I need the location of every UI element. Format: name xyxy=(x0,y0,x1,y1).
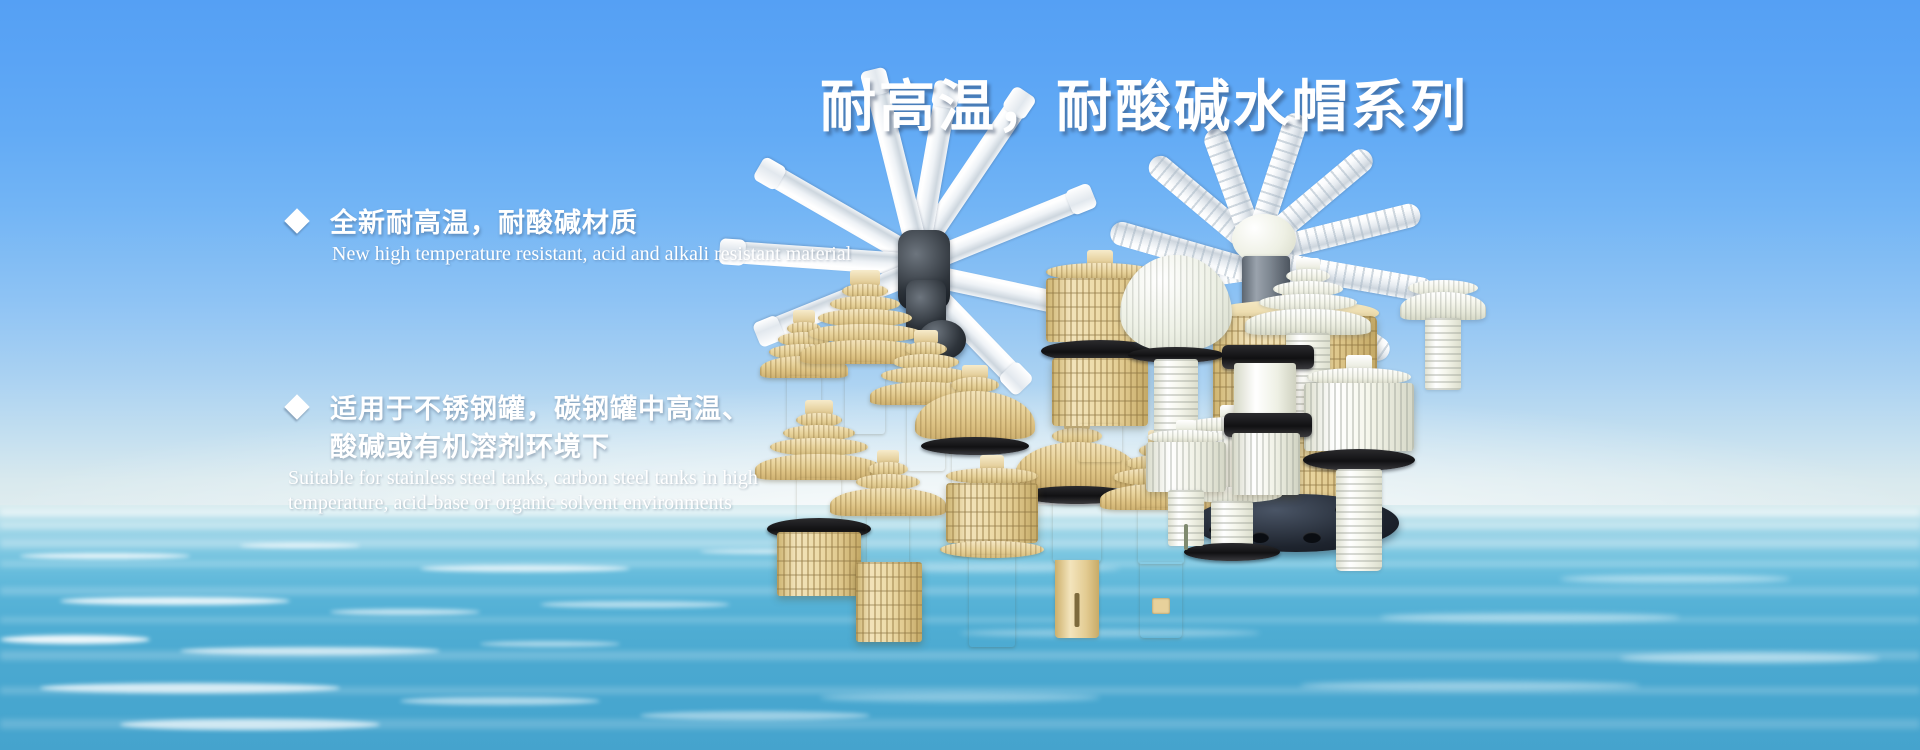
feature-bullet-1: 全新耐高温，耐酸碱材质 New high temperature resista… xyxy=(288,204,851,267)
diamond-bullet-icon xyxy=(284,394,309,419)
product-banner: 耐高温，耐酸碱水帽系列 全新耐高温，耐酸碱材质 New high tempera… xyxy=(0,0,1920,750)
nozzle-white-small-1 xyxy=(1140,420,1232,600)
page-title: 耐高温，耐酸碱水帽系列 xyxy=(820,62,1520,143)
nozzle-beige-drum-1 xyxy=(938,455,1046,655)
nozzle-white-right-edge xyxy=(1400,280,1486,410)
feature-1-en: New high temperature resistant, acid and… xyxy=(332,242,851,267)
feature-2-en: Suitable for stainless steel tanks, carb… xyxy=(288,466,758,516)
feature-bullet-2: 适用于不锈钢罐，碳钢罐中高温、 酸碱或有机溶剂环境下 Suitable for … xyxy=(288,390,758,516)
diamond-bullet-icon xyxy=(284,208,309,233)
nozzle-beige-medium-2 xyxy=(830,450,946,650)
feature-2-cn: 适用于不锈钢罐，碳钢罐中高温、 酸碱或有机溶剂环境下 xyxy=(330,390,758,466)
nozzle-white-dark-gasket-1 xyxy=(1220,345,1316,535)
product-photo-cluster xyxy=(700,130,1920,550)
feature-1-cn: 全新耐高温，耐酸碱材质 xyxy=(330,204,851,242)
